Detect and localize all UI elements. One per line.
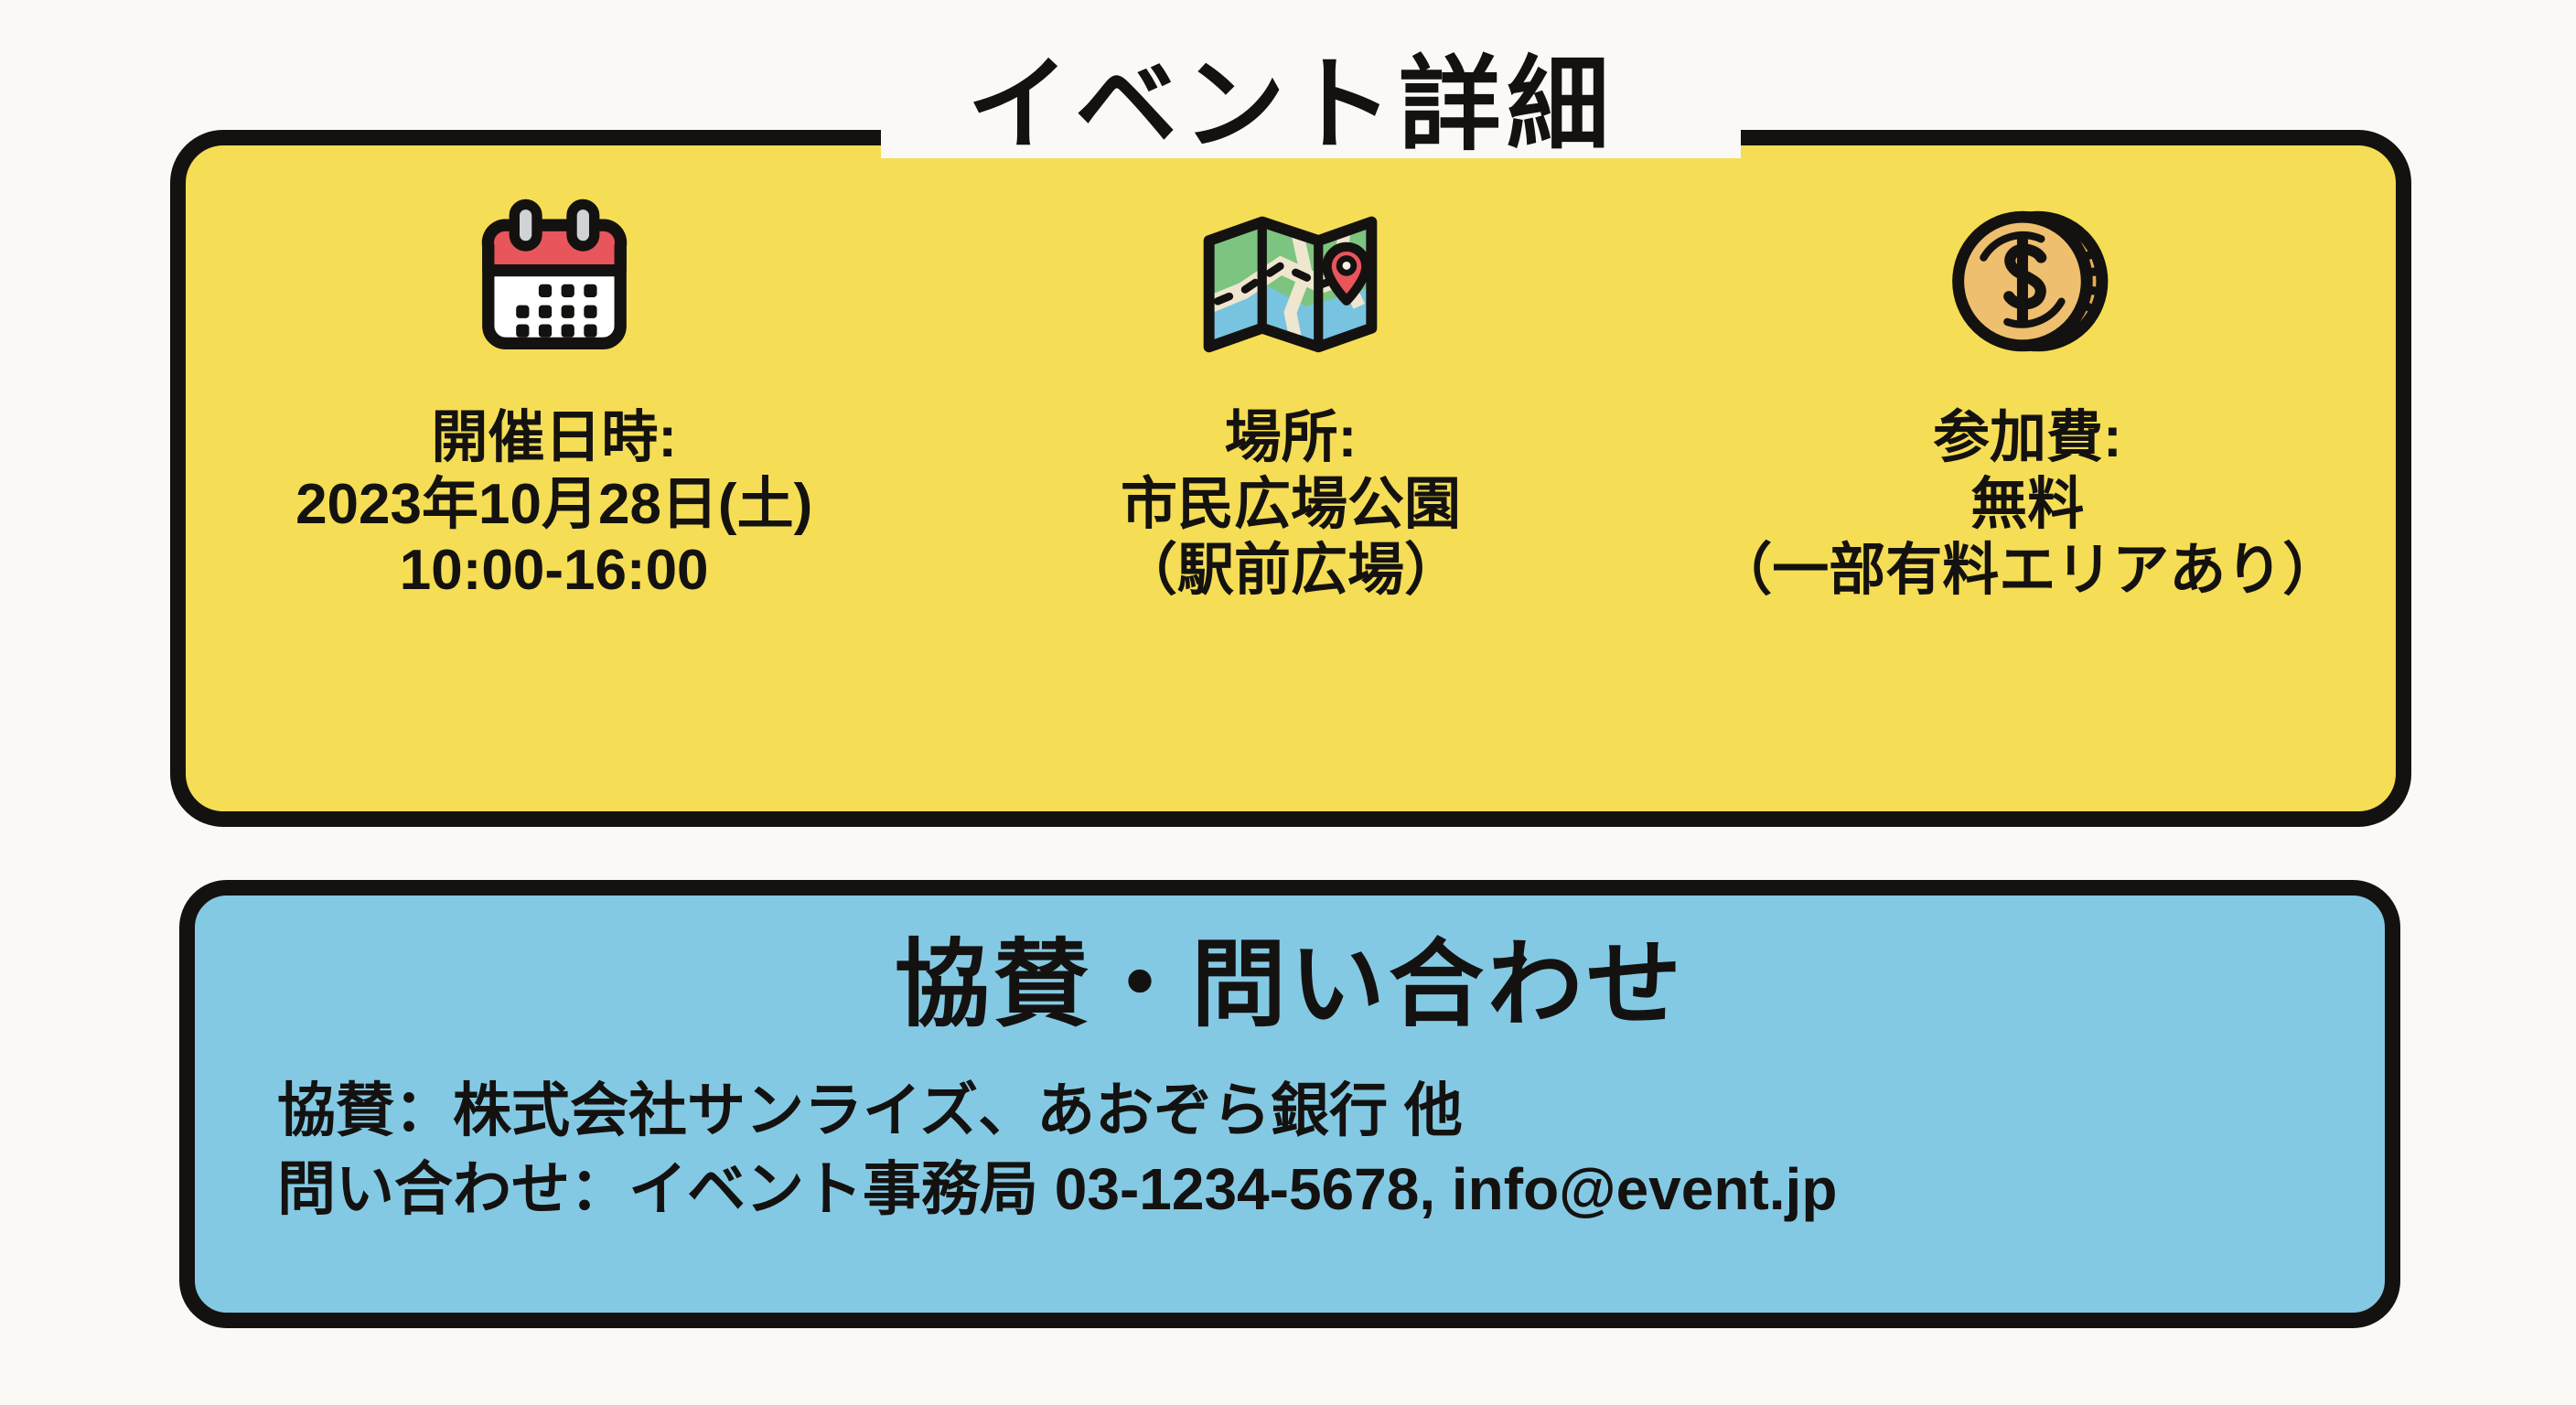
detail-value-time: 10:00-16:00 [295,538,812,605]
map-icon [1197,180,1384,381]
detail-label-venue: 場所: [1121,405,1461,472]
calendar-icon [467,180,641,381]
details-columns: 開催日時: 2023年10月28日(土) 10:00-16:00 [186,180,2396,605]
detail-column-fee: 参加費: 無料 （一部有料エリアあり） [1680,180,2375,605]
detail-value-venue-name: 市民広場公園 [1121,472,1461,539]
event-details-card: イベント詳細 [170,130,2411,827]
detail-value-date: 2023年10月28日(土) [295,472,812,539]
contact-card-heading: 協賛・問い合わせ [195,938,2385,1033]
sponsor-contact-card: 協賛・問い合わせ 協賛：株式会社サンライズ、あおぞら銀行 他 問い合わせ：イベン… [179,880,2400,1328]
details-card-title: イベント詳細 [186,54,2396,156]
detail-text-venue: 場所: 市民広場公園 （駅前広場） [1121,405,1461,605]
sponsor-line: 協賛：株式会社サンライズ、あおぞら銀行 他 [277,1071,2385,1150]
detail-column-datetime: 開催日時: 2023年10月28日(土) 10:00-16:00 [207,180,902,605]
detail-value-venue-note: （駅前広場） [1121,538,1461,605]
contact-card-body: 協賛：株式会社サンライズ、あおぞら銀行 他 問い合わせ：イベント事務局 03-1… [195,1071,2385,1229]
detail-label-datetime: 開催日時: [295,405,812,472]
detail-value-fee-note: （一部有料エリアあり） [1715,538,2339,605]
detail-value-fee: 無料 [1715,472,2339,539]
coin-icon [1943,180,2112,381]
inquiry-line: 問い合わせ：イベント事務局 03-1234-5678, info@event.j… [277,1150,2385,1228]
event-poster: イベント詳細 [0,0,2576,1405]
detail-label-fee: 参加費: [1715,405,2339,472]
detail-column-venue: 場所: 市民広場公園 （駅前広場） [943,180,1638,605]
detail-text-datetime: 開催日時: 2023年10月28日(土) 10:00-16:00 [295,405,812,605]
detail-text-fee: 参加費: 無料 （一部有料エリアあり） [1715,405,2339,605]
